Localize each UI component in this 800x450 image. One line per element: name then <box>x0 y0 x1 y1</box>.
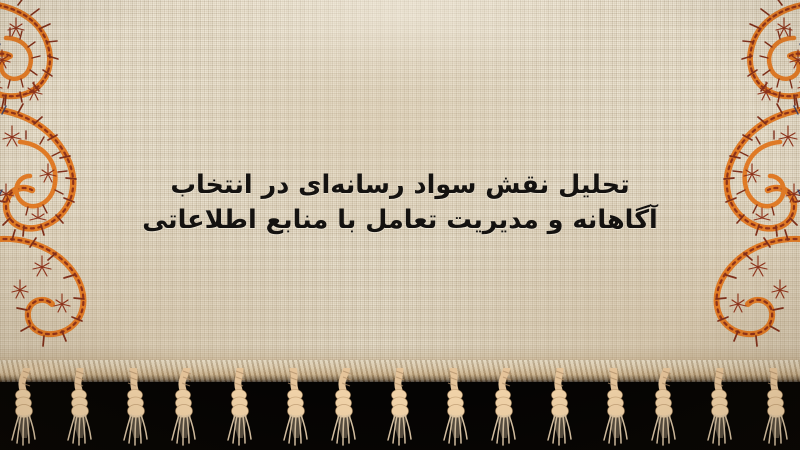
tassel <box>330 368 364 450</box>
tassel <box>170 368 204 450</box>
tassel <box>543 368 577 450</box>
tassel <box>63 368 97 450</box>
tassel <box>650 368 684 450</box>
paisley-ornament-right-icon <box>574 0 800 352</box>
tassel <box>223 368 257 450</box>
tassel <box>490 368 524 450</box>
tassel <box>756 368 790 450</box>
tassel <box>276 368 310 450</box>
tassel <box>703 368 737 450</box>
tassel <box>436 368 470 450</box>
tassel <box>383 368 417 450</box>
tassel <box>116 368 150 450</box>
tassel <box>10 368 44 450</box>
tassel-fringe <box>0 360 800 450</box>
title-card-canvas: تحلیل نقش سواد رسانه‌ای در انتخاب آگاهان… <box>0 0 800 450</box>
paisley-ornament-left-icon <box>0 0 226 352</box>
tassel <box>596 368 630 450</box>
